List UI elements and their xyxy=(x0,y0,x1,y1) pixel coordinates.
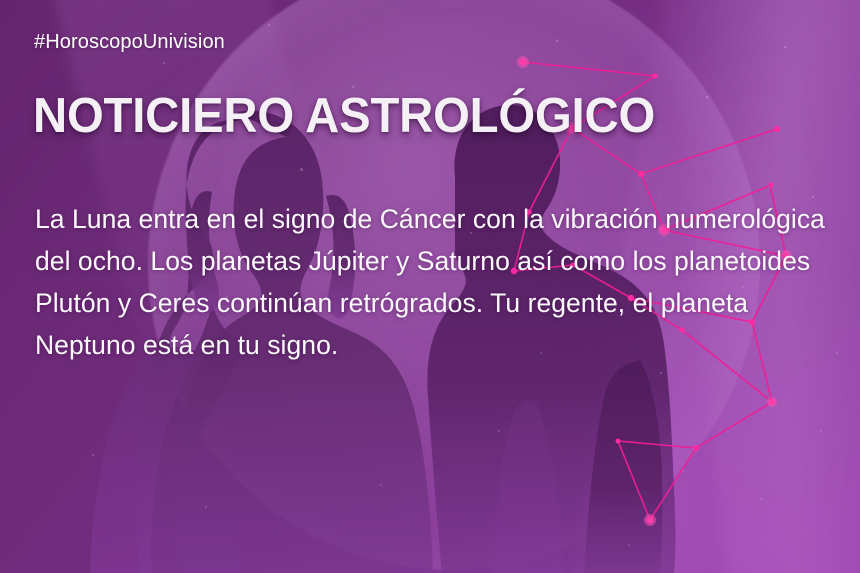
horoscope-banner: #HoroscopoUnivision NOTICIERO ASTROLÓGIC… xyxy=(0,0,860,573)
banner-content: #HoroscopoUnivision NOTICIERO ASTROLÓGIC… xyxy=(0,0,860,573)
horoscope-body-text: La Luna entra en el signo de Cáncer con … xyxy=(35,198,847,366)
page-title: NOTICIERO ASTROLÓGICO xyxy=(33,90,655,142)
hashtag-label: #HoroscopoUnivision xyxy=(34,31,225,54)
